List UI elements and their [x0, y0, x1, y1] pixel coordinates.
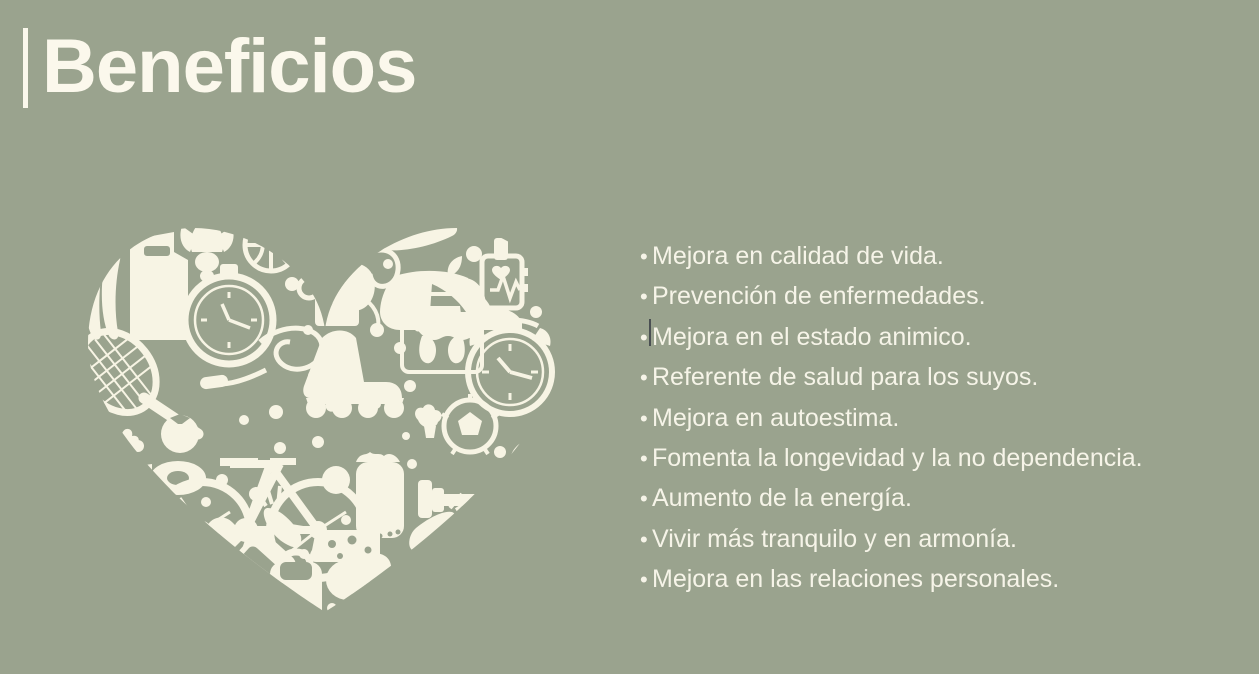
tomato-icon [161, 414, 199, 453]
page-title: Beneficios [42, 24, 416, 110]
bullet-icon: • [640, 479, 652, 519]
bullet-icon: • [640, 439, 652, 479]
onion-icon [510, 440, 554, 484]
strawberry-icon [525, 486, 548, 523]
bullet-icon: • [640, 399, 652, 439]
benefit-item-2[interactable]: • Prevención de enfermedades. [640, 276, 1220, 316]
benefits-list: • Mejora en calidad de vida. • Prevenció… [640, 236, 1220, 600]
measuring-tape-icon [106, 461, 206, 495]
benefit-text: Mejora en las relaciones personales. [652, 559, 1059, 599]
benefit-text: Aumento de la energía. [652, 478, 912, 518]
heart-shaped-fitness-icon-collage [70, 212, 580, 617]
orange-icon [124, 502, 178, 548]
kettlebell-icon [379, 541, 461, 617]
presentation-slide: Beneficios [0, 0, 1259, 674]
benefit-text: Fomenta la longevidad y la no dependenci… [652, 438, 1143, 478]
bullet-icon: • [640, 358, 652, 398]
benefit-item-3[interactable]: • Mejora en el estado animico. [640, 317, 1220, 357]
cheese-wedge-icon [310, 530, 380, 562]
benefit-item-5[interactable]: • Mejora en autoestima. [640, 398, 1220, 438]
boxing-glove-icon [328, 263, 375, 311]
page-title-block: Beneficios [23, 24, 416, 110]
benefit-text: Mejora en autoestima. [652, 398, 899, 438]
bullet-icon: • [640, 560, 652, 600]
dumbbell-icon [418, 480, 522, 518]
benefit-item-8[interactable]: • Vivir más tranquilo y en armonía. [640, 519, 1220, 559]
stopwatch-icon [185, 264, 273, 364]
banana-icon [462, 532, 518, 558]
benefit-item-1[interactable]: • Mejora en calidad de vida. [640, 236, 1220, 276]
protein-bar-icon [377, 222, 457, 251]
soccer-ball-icon [442, 394, 498, 454]
broccoli-icon [415, 404, 441, 438]
benefit-item-7[interactable]: • Aumento de la energía. [640, 478, 1220, 518]
banana-peel-icon [84, 253, 120, 340]
title-accent-bar [23, 28, 28, 108]
benefit-item-9[interactable]: • Mejora en las relaciones personales. [640, 559, 1220, 599]
benefit-text: Referente de salud para los suyos. [652, 357, 1038, 397]
benefit-item-4[interactable]: • Referente de salud para los suyos. [640, 357, 1220, 397]
sandwich-icon [356, 452, 404, 539]
basketball-icon [245, 219, 297, 271]
benefit-text: Vivir más tranquilo y en armonía. [652, 519, 1017, 559]
benefit-item-6[interactable]: • Fomenta la longevidad y la no dependen… [640, 438, 1220, 478]
bullet-icon: • [640, 237, 652, 277]
milk-carton-icon [130, 232, 188, 340]
bullet-icon: • [640, 520, 652, 560]
benefit-text: Prevención de enfermedades. [652, 276, 986, 316]
bullet-icon: • [640, 277, 652, 317]
benefit-text-editing[interactable]: Mejora en el estado animico. [652, 317, 972, 357]
benefit-text: Mejora en calidad de vida. [652, 236, 944, 276]
